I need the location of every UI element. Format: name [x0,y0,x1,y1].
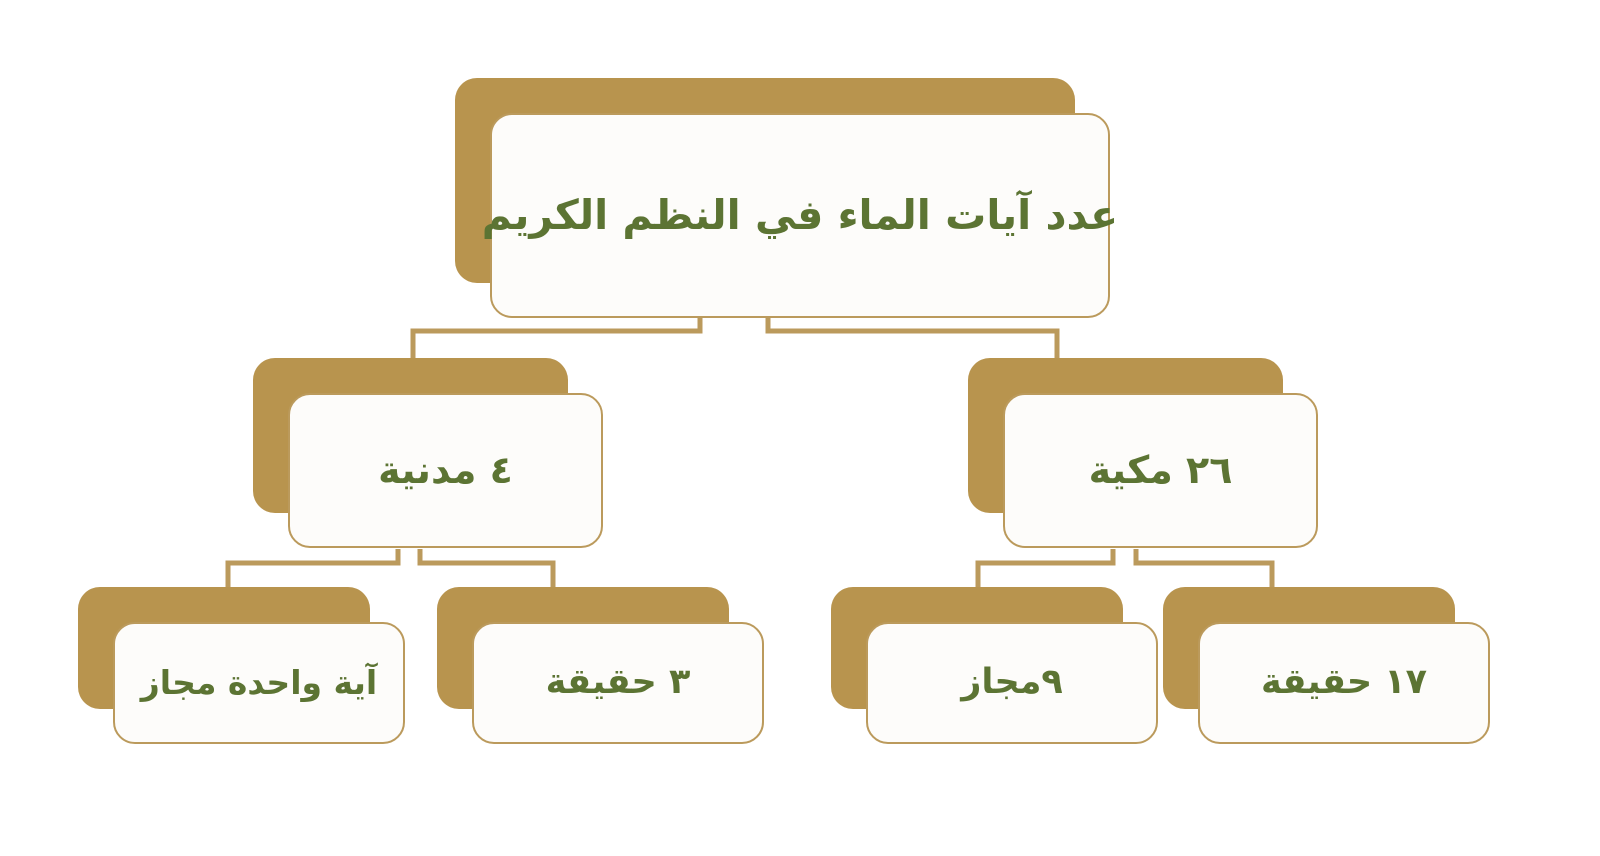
connector-makki-to-majaz [978,549,1113,590]
node-madani-majaz-card[interactable]: آية واحدة مجاز [113,622,405,744]
node-makki-haqiqa-card[interactable]: ١٧ حقيقة [1198,622,1490,744]
node-madani-majaz-label: آية واحدة مجاز [141,662,377,703]
diagram-canvas: عدد آيات الماء في النظم الكريم ٢٦ مكية ٤… [0,0,1600,856]
node-makki-card[interactable]: ٢٦ مكية [1003,393,1318,548]
node-madani-label: ٤ مدنية [378,447,513,495]
connector-makki-to-haqiqa [1136,549,1272,590]
connector-madani-to-majaz [228,549,398,590]
node-madani-majaz[interactable]: آية واحدة مجاز [78,587,370,709]
node-makki-haqiqa[interactable]: ١٧ حقيقة [1163,587,1455,709]
node-root-label: عدد آيات الماء في النظم الكريم [482,190,1118,241]
connector-madani-to-haqiqa [420,549,553,590]
node-root-card[interactable]: عدد آيات الماء في النظم الكريم [490,113,1110,318]
node-makki[interactable]: ٢٦ مكية [968,358,1283,513]
node-madani[interactable]: ٤ مدنية [253,358,568,513]
node-madani-haqiqa[interactable]: ٣ حقيقة [437,587,729,709]
node-root[interactable]: عدد آيات الماء في النظم الكريم [455,78,1075,283]
node-makki-majaz[interactable]: ٩مجاز [831,587,1123,709]
node-makki-majaz-card[interactable]: ٩مجاز [866,622,1158,744]
node-madani-card[interactable]: ٤ مدنية [288,393,603,548]
node-makki-haqiqa-label: ١٧ حقيقة [1261,661,1427,705]
node-madani-haqiqa-label: ٣ حقيقة [546,661,691,705]
node-makki-label: ٢٦ مكية [1089,447,1233,495]
node-madani-haqiqa-card[interactable]: ٣ حقيقة [472,622,764,744]
node-makki-majaz-label: ٩مجاز [961,661,1063,705]
